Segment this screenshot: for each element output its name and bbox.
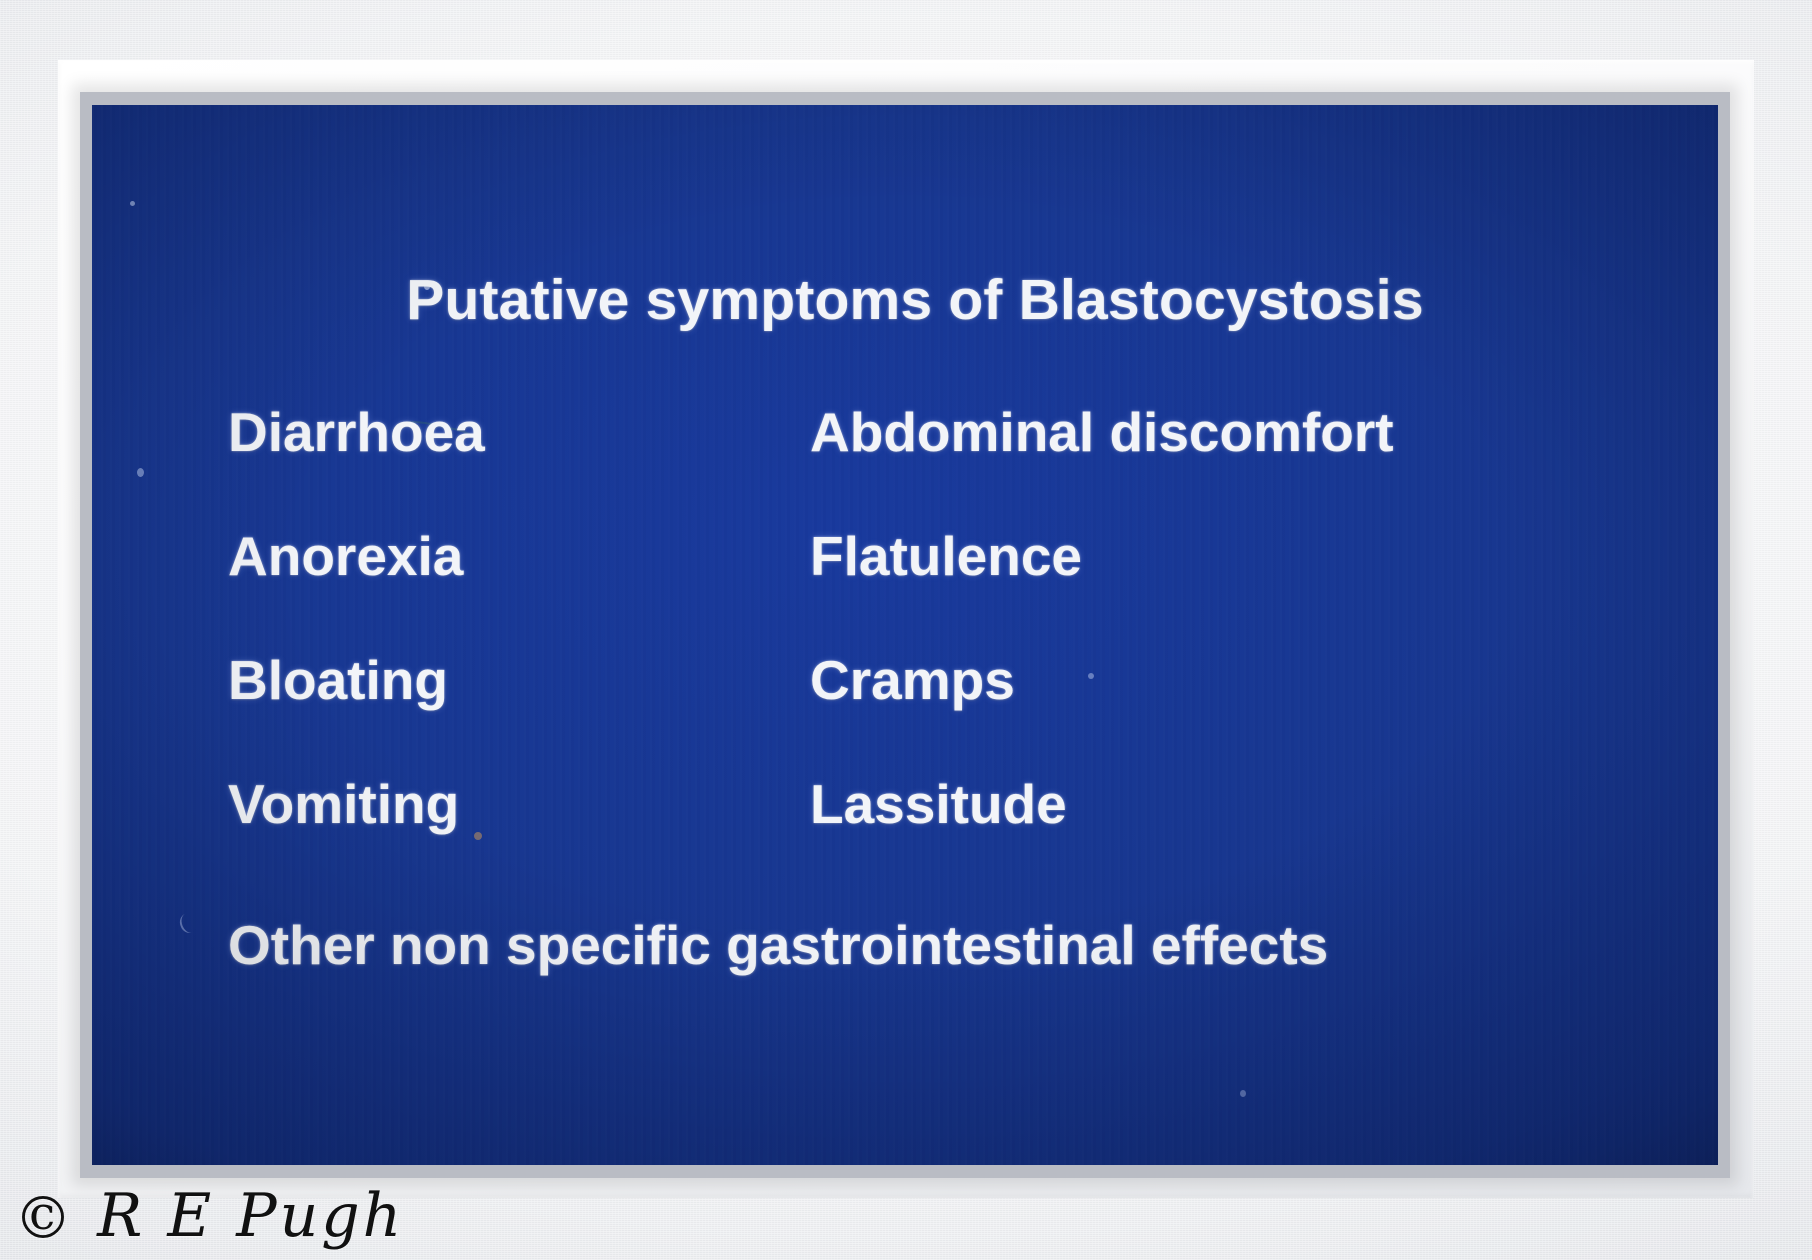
copyright-watermark: © R E Pugh <box>14 1181 404 1252</box>
copyright-icon: © <box>14 1184 75 1252</box>
slide-vignette <box>92 105 1718 1165</box>
presentation-slide: Putative symptoms of Blastocystosis Diar… <box>92 105 1718 1165</box>
slide-photograph: Putative symptoms of Blastocystosis Diar… <box>0 0 1812 1260</box>
copyright-name: R E Pugh <box>97 1181 404 1251</box>
